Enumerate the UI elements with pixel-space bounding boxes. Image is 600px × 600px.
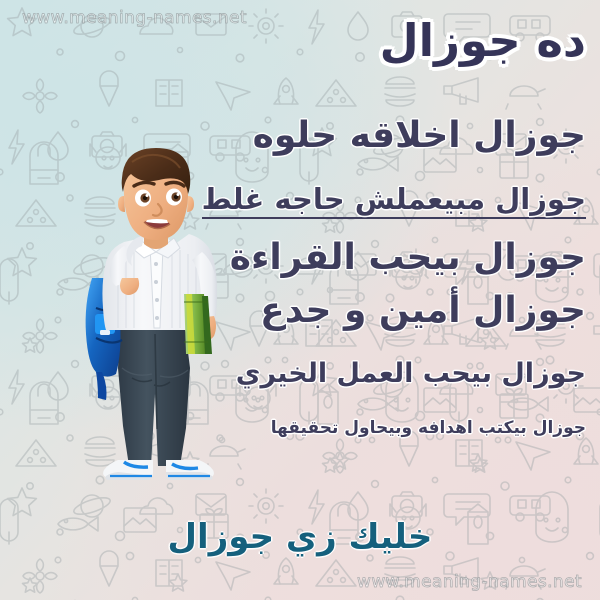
name-meaning-card: www.meaning-names.net www.meaning-names.… xyxy=(0,0,600,600)
head xyxy=(118,148,194,240)
trait-line-5: جوزال بيحب العمل الخيري xyxy=(236,360,586,387)
right-shoe xyxy=(166,460,214,480)
trait-line-6: جوزال بيكتب اهدافه وبيحاول تحقيقها xyxy=(271,420,586,437)
trait-line-3: جوزال بيحب القراءة xyxy=(230,240,586,276)
trait-line-2-text: جوزال مبيعملش حاجه غلط xyxy=(202,182,586,219)
trait-line-1: جوزال اخلاقه حلوه xyxy=(253,118,586,154)
trait-line-2: جوزال مبيعملش حاجه غلط xyxy=(202,185,586,214)
student-boy-illustration xyxy=(62,142,242,482)
watermark-top: www.meaning-names.net xyxy=(22,8,247,28)
green-notebooks xyxy=(184,294,212,354)
watermark-bottom: www.meaning-names.net xyxy=(357,572,582,592)
left-shoe xyxy=(103,460,153,480)
page-title: ده جوزال xyxy=(380,18,586,63)
trait-line-4: جوزال أمين و جدع xyxy=(260,293,586,329)
footer-slogan: خليك زي جوزال xyxy=(0,520,600,554)
